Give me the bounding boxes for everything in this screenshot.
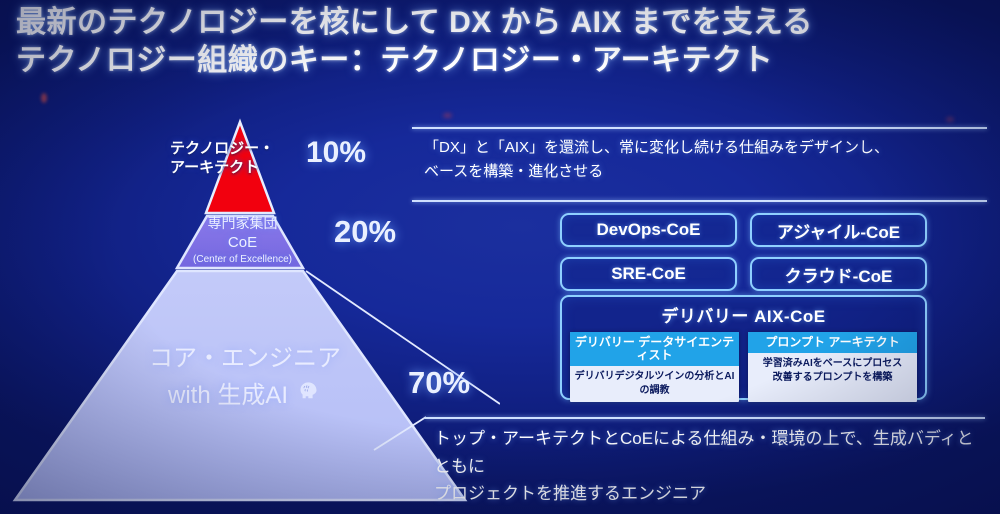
- percent-base: 70%: [408, 365, 470, 401]
- delivery-panel-title: デリバリー AIX-CoE: [562, 302, 925, 327]
- coe-box-devops[interactable]: DevOps-CoE: [560, 213, 737, 247]
- percent-apex: 10%: [306, 136, 366, 170]
- pyramid-middle-segment: [177, 216, 303, 268]
- coe-box-sre[interactable]: SRE-CoE: [560, 257, 737, 291]
- delivery-card-body: デリバリデジタルツインの分析とAI の調教: [570, 366, 739, 402]
- coe-box-cloud[interactable]: クラウド-CoE: [750, 257, 927, 291]
- delivery-card-prompt-architect[interactable]: プロンプト アーキテクト 学習済みAIをベースにプロセス 改善するプロンプトを構…: [748, 332, 917, 402]
- pyramid-apex-segment: [206, 122, 274, 213]
- top-paragraph: 「DX」と「AIX」を還流し、常に変化し続ける仕組みをデザインし、 ベースを構築…: [424, 136, 984, 184]
- delivery-aix-coe-panel[interactable]: デリバリー AIX-CoE デリバリー データサイエンティスト デリバリデジタル…: [560, 295, 927, 400]
- percent-middle: 20%: [334, 214, 396, 250]
- pyramid-base-segment: [15, 271, 465, 500]
- delivery-card-list: デリバリー データサイエンティスト デリバリデジタルツインの分析とAI の調教 …: [562, 327, 925, 402]
- divider-middle: [412, 200, 987, 202]
- delivery-card-body: 学習済みAIをベースにプロセス 改善するプロンプトを構築: [748, 353, 917, 389]
- divider-top: [412, 127, 987, 129]
- bottom-paragraph: トップ・アーキテクトとCoEによる仕組み・環境の上で、生成バディとともに プロジ…: [434, 425, 989, 508]
- divider-bottom: [425, 417, 985, 419]
- delivery-card-header: プロンプト アーキテクト: [748, 332, 917, 353]
- coe-box-agile[interactable]: アジャイル-CoE: [750, 213, 927, 247]
- delivery-card-header: デリバリー データサイエンティスト: [570, 332, 739, 366]
- slide-title: 最新のテクノロジーを核にして DX から AIX までを支える テクノロジー組織…: [16, 4, 956, 81]
- delivery-card-data-scientist[interactable]: デリバリー データサイエンティスト デリバリデジタルツインの分析とAI の調教: [570, 332, 739, 402]
